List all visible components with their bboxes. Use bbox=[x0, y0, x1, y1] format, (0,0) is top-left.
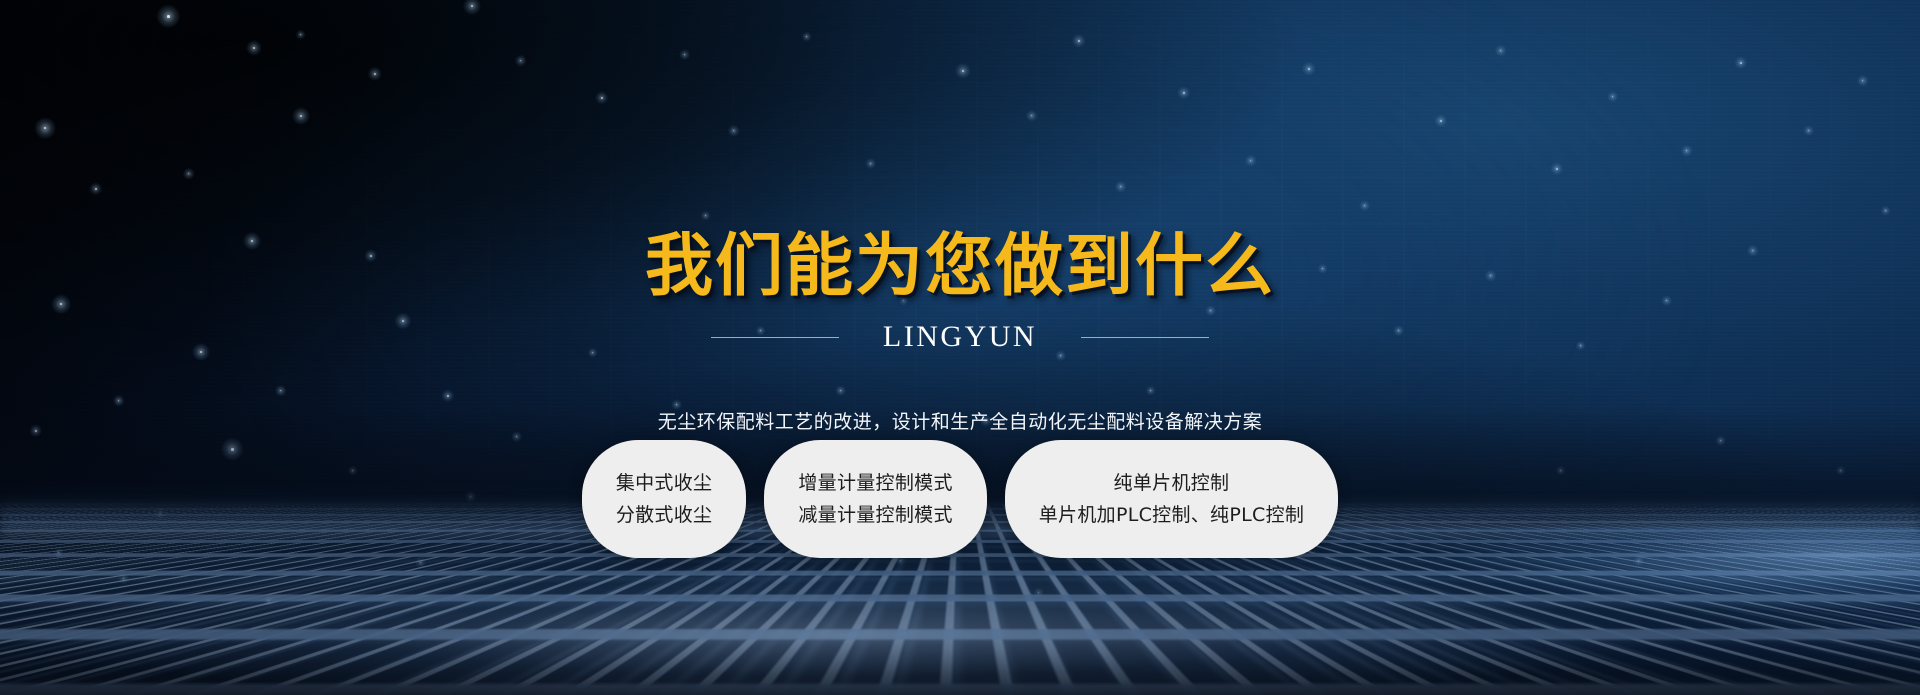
page-title: 我们能为您做到什么 bbox=[0, 233, 1920, 301]
feature-card-line-2: 单片机加PLC控制、纯PLC控制 bbox=[1039, 506, 1304, 525]
subtitle-english: LINGYUN bbox=[883, 322, 1037, 352]
feature-card-line-1: 纯单片机控制 bbox=[1114, 474, 1230, 493]
divider-line-left bbox=[711, 337, 839, 338]
feature-card-control-system[interactable]: 纯单片机控制 单片机加PLC控制、纯PLC控制 bbox=[1005, 440, 1338, 558]
page-description: 无尘环保配料工艺的改进，设计和生产全自动化无尘配料设备解决方案 bbox=[0, 407, 1920, 434]
feature-card-metering-mode[interactable]: 增量计量控制模式 减量计量控制模式 bbox=[764, 440, 986, 558]
divider-line-right bbox=[1081, 337, 1209, 338]
feature-pill-row: 集中式收尘 分散式收尘 增量计量控制模式 减量计量控制模式 纯单片机控制 单片机… bbox=[0, 440, 1920, 558]
feature-card-line-1: 集中式收尘 bbox=[616, 474, 713, 493]
feature-card-dust-collection[interactable]: 集中式收尘 分散式收尘 bbox=[582, 440, 747, 558]
hero-content: 我们能为您做到什么 LINGYUN 无尘环保配料工艺的改进，设计和生产全自动化无… bbox=[0, 0, 1920, 695]
feature-card-line-1: 增量计量控制模式 bbox=[798, 474, 952, 493]
subtitle-row: LINGYUN bbox=[0, 322, 1920, 352]
feature-card-line-2: 减量计量控制模式 bbox=[798, 506, 952, 525]
hero-banner: 我们能为您做到什么 LINGYUN 无尘环保配料工艺的改进，设计和生产全自动化无… bbox=[0, 0, 1920, 695]
feature-card-line-2: 分散式收尘 bbox=[616, 506, 713, 525]
